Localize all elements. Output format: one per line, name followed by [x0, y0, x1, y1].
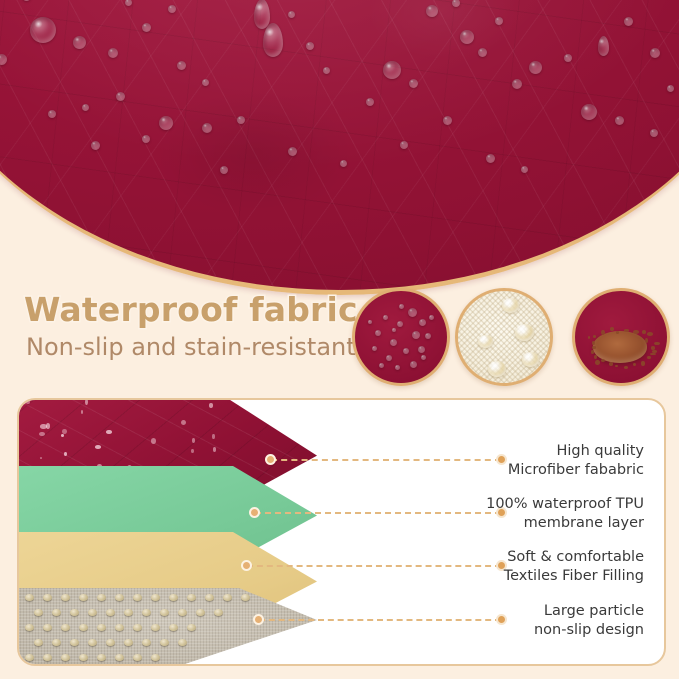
non-slip-nub — [79, 654, 88, 661]
non-slip-nub — [196, 609, 205, 616]
splash-droplet — [592, 341, 596, 345]
droplet-speckle — [46, 423, 50, 428]
non-slip-nub — [151, 654, 160, 661]
non-slip-nub — [79, 624, 88, 631]
non-slip-nub — [52, 609, 61, 616]
water-droplet — [624, 17, 633, 26]
non-slip-nub — [133, 594, 142, 601]
callout-label-1: High quality Microfiber fababric — [508, 442, 644, 480]
water-droplet — [383, 61, 401, 79]
page-title: Waterproof fabric — [24, 292, 364, 328]
water-droplet — [478, 48, 487, 57]
non-slip-nub — [214, 609, 223, 616]
non-slip-nub — [61, 594, 70, 601]
splash-droplet — [641, 361, 645, 365]
splash-droplet — [615, 365, 617, 367]
non-slip-nub — [115, 654, 124, 661]
water-droplet — [421, 355, 426, 360]
page-subtitle: Non-slip and stain-resistant — [26, 334, 364, 360]
splash-droplet — [601, 330, 604, 335]
splash-droplet — [591, 350, 595, 354]
non-slip-nub — [43, 654, 52, 661]
callout-label-3-line2: Textiles Fiber Filling — [504, 567, 644, 586]
water-beading-circle — [352, 288, 450, 386]
callout-end-dot-4 — [496, 614, 507, 625]
non-slip-nub — [52, 639, 61, 646]
water-droplet — [486, 154, 495, 163]
splash-droplet — [593, 335, 596, 338]
non-slip-nub — [79, 594, 88, 601]
callout-label-4-line2: non-slip design — [534, 621, 644, 640]
layer-diagram-panel: High quality Microfiber fababric 100% wa… — [17, 398, 666, 666]
non-slip-nub — [115, 594, 124, 601]
callout-anchor-dot-3 — [241, 560, 252, 571]
non-slip-nub — [97, 594, 106, 601]
non-slip-nub — [169, 624, 178, 631]
splash-droplet — [609, 362, 613, 366]
droplet-speckle — [213, 447, 216, 451]
hero-fabric-photo — [0, 0, 679, 300]
water-droplet — [392, 328, 396, 332]
droplet-speckle — [106, 430, 111, 434]
non-slip-nub — [169, 594, 178, 601]
callout-label-1-line1: High quality — [508, 442, 644, 461]
water-droplet — [368, 320, 372, 324]
water-droplet — [598, 36, 609, 56]
splash-droplet — [616, 331, 619, 334]
droplet-speckle — [192, 438, 195, 443]
water-droplet — [263, 23, 283, 57]
stain-resistant-circle — [572, 288, 670, 386]
droplet-speckle — [26, 400, 30, 405]
non-slip-nub — [241, 594, 250, 601]
non-slip-nub — [70, 609, 79, 616]
droplet-speckle — [95, 445, 101, 449]
water-droplet — [372, 346, 377, 351]
callout-label-4-line1: Large particle — [534, 602, 644, 621]
non-slip-nub — [133, 624, 142, 631]
droplet-speckle — [85, 399, 88, 405]
splash-droplet — [645, 338, 648, 343]
mesh-backing-circle — [455, 288, 553, 386]
water-droplet — [82, 104, 89, 111]
mesh-droplet — [515, 324, 534, 341]
callout-label-2: 100% waterproof TPU membrane layer — [486, 495, 644, 533]
non-slip-nub — [187, 594, 196, 601]
callout-label-4: Large particle non-slip design — [534, 602, 644, 640]
water-droplet — [383, 315, 388, 320]
non-slip-nub — [97, 624, 106, 631]
water-droplet — [220, 166, 228, 174]
non-slip-nub — [61, 654, 70, 661]
water-droplet — [375, 330, 381, 336]
water-droplet — [581, 104, 597, 120]
non-slip-nub — [151, 594, 160, 601]
water-droplet — [323, 67, 330, 74]
droplet-speckle — [40, 457, 43, 459]
splash-droplet — [588, 336, 591, 339]
splash-droplet — [647, 332, 653, 336]
water-droplet — [564, 54, 572, 62]
water-droplet — [306, 42, 314, 50]
non-slip-nub — [106, 639, 115, 646]
non-slip-nub — [142, 609, 151, 616]
water-droplet — [108, 48, 118, 58]
callout-end-dot-1 — [496, 454, 507, 465]
callout-line-3 — [247, 565, 501, 567]
callout-anchor-dot-2 — [249, 507, 260, 518]
mesh-droplet — [488, 361, 506, 377]
water-droplet — [418, 346, 425, 353]
splash-droplet — [642, 330, 646, 334]
non-slip-nub — [187, 624, 196, 631]
non-slip-nub — [25, 654, 34, 661]
water-droplet — [650, 48, 660, 58]
water-droplet — [116, 92, 125, 101]
water-droplet — [521, 166, 528, 173]
non-slip-nub — [133, 654, 142, 661]
water-droplet — [529, 61, 542, 74]
water-droplet — [425, 333, 431, 339]
non-slip-nub — [151, 624, 160, 631]
droplet-speckle — [151, 438, 156, 444]
splash-droplet — [633, 330, 638, 334]
water-droplet — [412, 331, 420, 339]
droplet-speckle — [62, 429, 67, 434]
splash-droplet — [650, 353, 655, 355]
callout-label-2-line1: 100% waterproof TPU — [486, 495, 644, 514]
droplet-speckle — [209, 403, 213, 407]
water-droplet — [495, 17, 503, 25]
callout-label-1-line2: Microfiber fababric — [508, 461, 644, 480]
non-slip-nub — [178, 639, 187, 646]
water-droplet — [48, 110, 56, 118]
water-droplet — [340, 160, 347, 167]
non-slip-nub — [205, 594, 214, 601]
water-droplet — [399, 304, 404, 309]
non-slip-nub — [70, 639, 79, 646]
callout-anchor-dot-4 — [253, 614, 264, 625]
fabric-sheen — [0, 0, 679, 290]
water-droplet — [429, 315, 434, 320]
water-droplet — [379, 363, 384, 368]
water-droplet — [390, 339, 397, 346]
callout-label-3: Soft & comfortable Textiles Fiber Fillin… — [504, 548, 644, 586]
water-droplet — [386, 355, 392, 361]
water-droplet — [403, 348, 409, 354]
droplet-speckle — [39, 432, 45, 436]
droplet-speckle — [191, 449, 194, 454]
non-slip-nub — [25, 624, 34, 631]
water-droplet — [452, 0, 460, 7]
fabric-ellipse — [0, 0, 679, 295]
water-droplet — [650, 129, 658, 137]
non-slip-nub — [88, 609, 97, 616]
non-slip-nub — [160, 609, 169, 616]
water-droplet — [202, 123, 212, 133]
splash-droplet — [624, 329, 629, 331]
non-slip-nub — [124, 639, 133, 646]
callout-line-4 — [259, 619, 501, 621]
water-droplet — [366, 98, 374, 106]
splash-droplet — [594, 355, 597, 359]
non-slip-nub — [34, 609, 43, 616]
water-droplet — [168, 5, 176, 13]
mesh-droplet — [478, 335, 493, 348]
liquid-stain — [593, 331, 646, 362]
non-slip-nub — [61, 624, 70, 631]
callout-anchor-dot-1 — [265, 454, 276, 465]
callout-label-3-line1: Soft & comfortable — [504, 548, 644, 567]
water-droplet — [177, 61, 186, 70]
mesh-droplet — [522, 352, 539, 367]
non-slip-nub — [106, 609, 115, 616]
water-droplet — [426, 5, 438, 17]
product-infographic: Waterproof fabric Non-slip and stain-res… — [0, 0, 679, 679]
headline-block: Waterproof fabric Non-slip and stain-res… — [24, 292, 364, 360]
mesh-droplet — [502, 298, 519, 313]
non-slip-nub — [43, 624, 52, 631]
non-slip-nub — [124, 609, 133, 616]
water-droplet — [419, 319, 426, 326]
water-droplet — [460, 30, 474, 44]
non-slip-nub — [223, 594, 232, 601]
water-droplet — [410, 361, 417, 368]
non-slip-nub — [25, 594, 34, 601]
callout-label-2-line2: membrane layer — [486, 514, 644, 533]
non-slip-nub — [88, 639, 97, 646]
non-slip-nub — [160, 639, 169, 646]
non-slip-nub — [142, 639, 151, 646]
callout-line-2 — [255, 512, 501, 514]
water-droplet — [409, 79, 418, 88]
callout-line-1 — [271, 459, 501, 461]
water-droplet — [395, 365, 400, 370]
non-slip-nub — [115, 624, 124, 631]
splash-droplet — [610, 327, 615, 331]
water-droplet — [408, 308, 417, 317]
splash-droplet — [654, 342, 659, 345]
splash-droplet — [624, 366, 628, 369]
water-droplet — [397, 321, 403, 327]
non-slip-nub — [34, 639, 43, 646]
splash-droplet — [647, 356, 650, 359]
splash-droplet — [595, 360, 599, 365]
splash-droplet — [601, 359, 606, 363]
non-slip-nub — [97, 654, 106, 661]
water-droplet — [91, 141, 100, 150]
non-slip-nub — [43, 594, 52, 601]
splash-droplet — [633, 363, 636, 366]
non-slip-nub — [178, 609, 187, 616]
water-droplet — [125, 0, 132, 6]
